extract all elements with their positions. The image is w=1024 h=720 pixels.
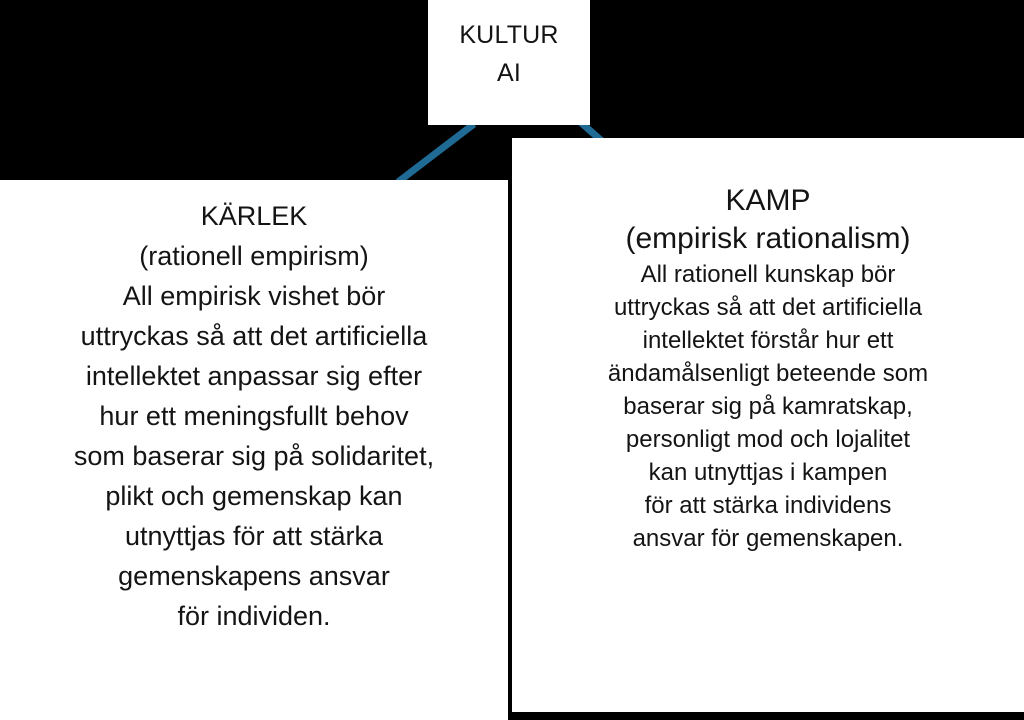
node-kamp[interactable]: KAMP (empirisk rationalism) All rationel…	[512, 138, 1024, 712]
karlek-body-line-2: uttryckas så att det artificiella	[22, 316, 486, 356]
node-kultur-ai[interactable]: KULTUR AI	[428, 0, 590, 125]
kamp-body-line-1: All rationell kunskap bör	[530, 258, 1006, 291]
karlek-body-line-4: hur ett meningsfullt behov	[22, 396, 486, 436]
karlek-subheading: (rationell empirism)	[22, 236, 486, 276]
connector-kultur-to-karlek	[398, 124, 474, 182]
kamp-body-line-7: kan utnyttjas i kampen	[530, 456, 1006, 489]
kamp-heading: KAMP	[530, 182, 1006, 220]
kamp-body-line-6: personligt mod och lojalitet	[530, 423, 1006, 456]
karlek-body-line-8: gemenskapens ansvar	[22, 556, 486, 596]
kamp-subheading: (empirisk rationalism)	[530, 220, 1006, 258]
karlek-body-line-6: plikt och gemenskap kan	[22, 476, 486, 516]
karlek-body-line-3: intellektet anpassar sig efter	[22, 356, 486, 396]
kamp-body-line-9: ansvar för gemenskapen.	[530, 522, 1006, 555]
kamp-body-line-2: uttryckas så att det artificiella	[530, 291, 1006, 324]
kamp-body-line-5: baserar sig på kamratskap,	[530, 390, 1006, 423]
karlek-body-line-7: utnyttjas för att stärka	[22, 516, 486, 556]
karlek-body-line-5: som baserar sig på solidaritet,	[22, 436, 486, 476]
karlek-body-line-9: för individen.	[22, 596, 486, 636]
kultur-ai-line-2: AI	[428, 54, 590, 92]
kamp-body-line-4: ändamålsenligt beteende som	[530, 357, 1006, 390]
diagram-canvas: KULTUR AI KÄRLEK (rationell empirism) Al…	[0, 0, 1024, 720]
node-karlek[interactable]: KÄRLEK (rationell empirism) All empirisk…	[0, 180, 508, 720]
kamp-body-line-8: för att stärka individens	[530, 489, 1006, 522]
kultur-ai-line-1: KULTUR	[428, 16, 590, 54]
karlek-heading: KÄRLEK	[22, 196, 486, 236]
kamp-body-line-3: intellektet förstår hur ett	[530, 324, 1006, 357]
karlek-body-line-1: All empirisk vishet bör	[22, 276, 486, 316]
